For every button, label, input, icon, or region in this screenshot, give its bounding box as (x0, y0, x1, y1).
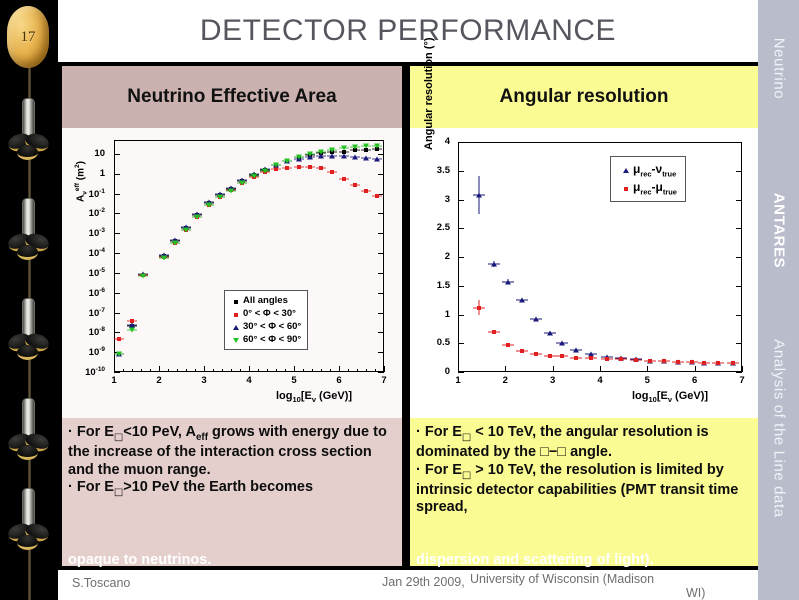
bullet-left-2: · For E□>10 PeV the Earth becomes (68, 479, 394, 499)
data-point (375, 194, 379, 198)
chart-legend: μrec-νtrueμrec-μtrue (610, 156, 686, 202)
data-point (233, 325, 239, 330)
data-point (308, 165, 312, 169)
data-point (297, 165, 301, 169)
right-sidebar: Neutrino ANTARES Analysis of the Line da… (758, 0, 799, 600)
bullet-right-overflow: dispersion and scattering of light). (416, 552, 654, 570)
legend-item: 60° < Φ < 90° (229, 333, 301, 346)
y-axis-tick-label: 0 (410, 366, 450, 377)
data-point (492, 330, 496, 334)
data-point (477, 306, 481, 310)
data-point (117, 337, 121, 341)
x-axis-tick-label: 3 (543, 375, 563, 386)
legend-item: 30° < Φ < 60° (229, 320, 301, 333)
data-point (341, 154, 347, 159)
data-point (239, 180, 245, 185)
x-axis-title: log10[Eν (GeV)] (632, 390, 708, 404)
data-point (217, 194, 223, 199)
data-point (274, 167, 278, 171)
panel-angular-resolution: Angular resolution 00.511.522.533.541234… (410, 66, 758, 566)
data-point (520, 349, 524, 353)
data-point (194, 215, 200, 220)
y-axis-tick-label: 10-7 (62, 307, 105, 319)
sidebar-label-analysis: Analysis of the Line data (770, 339, 787, 517)
y-axis-tick-label: 10-3 (62, 227, 105, 239)
data-point (296, 154, 302, 159)
slide-number: 17 (21, 29, 36, 46)
data-point (534, 352, 538, 356)
data-point (505, 279, 511, 284)
data-point (559, 341, 565, 346)
data-point (341, 146, 347, 151)
data-point (476, 192, 482, 197)
data-point (234, 300, 238, 304)
footer-author: S.Toscano (72, 576, 130, 590)
x-axis-tick-label: 5 (637, 375, 657, 386)
data-point (560, 354, 564, 358)
legend-marker-icon (229, 309, 243, 319)
data-point (702, 361, 706, 365)
data-point (251, 174, 257, 179)
sidebar-label-neutrino: Neutrino (770, 38, 787, 100)
x-axis-tick-label: 6 (685, 375, 705, 386)
bullet-right-2: · For E□ > 10 TeV, the resolution is lim… (416, 462, 750, 517)
data-point (140, 273, 146, 278)
y-axis-tick-label: 10-4 (62, 247, 105, 259)
data-point (234, 313, 238, 317)
bullet-left-1: · For E□<10 PeV, Aeff grows with energy … (68, 424, 394, 479)
data-point (624, 187, 628, 191)
footer-institution: University of Wisconsin (Madison (470, 572, 654, 586)
data-point (233, 338, 239, 343)
data-point (319, 166, 323, 170)
data-point (329, 147, 335, 152)
data-point (623, 168, 629, 173)
y-axis-tick-label: 0.5 (410, 337, 450, 348)
legend-label: 60° < Φ < 90° (243, 334, 301, 345)
y-axis-tick-label: 10 (62, 148, 105, 159)
legend-marker-icon (229, 296, 243, 306)
data-point (690, 360, 694, 364)
footer-institution-cont: WI) (686, 586, 705, 600)
data-point (589, 356, 593, 360)
data-point (574, 356, 578, 360)
x-axis-tick-label: 1 (104, 375, 124, 386)
data-point (363, 156, 369, 161)
x-axis-tick-label: 3 (194, 375, 214, 386)
data-point (363, 144, 369, 149)
data-point (605, 357, 609, 361)
y-axis-tick-label: 10-5 (62, 267, 105, 279)
y-axis-tick-label: 2 (410, 251, 450, 262)
data-point (547, 330, 553, 335)
data-point (116, 352, 122, 357)
legend-item: All angles (229, 294, 301, 307)
data-point (318, 154, 324, 159)
y-axis-tick-label: 10-6 (62, 287, 105, 299)
legend-label: All angles (243, 295, 288, 306)
data-point (533, 316, 539, 321)
y-axis-title: Angular resolution (°) (423, 37, 435, 150)
panel-neutrino-effective-area: Neutrino Effective Area 10110-110-210-31… (62, 66, 402, 566)
data-point (352, 155, 358, 160)
legend-marker-icon (619, 165, 633, 175)
data-point (206, 203, 212, 208)
data-point (731, 361, 735, 365)
detector-storey (8, 398, 50, 470)
data-point (374, 156, 380, 161)
bullet-right-1: · For E□ < 10 TeV, the angular resolutio… (416, 424, 750, 462)
data-point (676, 360, 680, 364)
data-point (374, 143, 380, 148)
legend-label: 0° < Φ < 30° (243, 308, 296, 319)
y-axis-tick-label: 2.5 (410, 222, 450, 233)
panel-left-text: · For E□<10 PeV, Aeff grows with energy … (62, 418, 402, 566)
legend-marker-icon (619, 183, 633, 193)
page-title: DETECTOR PERFORMANCE (200, 14, 616, 48)
footer-date: Jan 29th 2009, (382, 575, 465, 589)
sidebar-label-antares: ANTARES (770, 193, 787, 269)
y-axis-tick-label: 1 (410, 309, 450, 320)
y-axis-tick-label: 1.5 (410, 280, 450, 291)
chart-neutrino-effective-area: 10110-110-210-310-410-510-610-710-810-91… (62, 128, 402, 418)
data-point (352, 145, 358, 150)
chart-legend: All angles0° < Φ < 30°30° < Φ < 60°60° <… (224, 290, 308, 350)
detector-line-graphic: 17 (0, 0, 58, 600)
x-axis-title: log10[Eν (GeV)] (276, 390, 352, 404)
data-point (172, 241, 178, 246)
data-point (662, 359, 666, 363)
data-point (491, 261, 497, 266)
legend-item: μrec-νtrue (619, 161, 677, 179)
x-axis-tick-label: 1 (448, 375, 468, 386)
x-axis-tick-label: 4 (239, 375, 259, 386)
panel-right-header: Angular resolution (410, 66, 758, 128)
slide-title-bar: DETECTOR PERFORMANCE (58, 0, 758, 62)
data-point (318, 149, 324, 154)
x-axis-tick-label: 7 (374, 375, 394, 386)
panel-right-text: · For E□ < 10 TeV, the angular resolutio… (410, 418, 758, 566)
y-axis-tick-label: 10-9 (62, 346, 105, 358)
legend-marker-icon (229, 322, 243, 332)
data-point (183, 228, 189, 233)
data-point (262, 168, 268, 173)
y-axis-tick-label: 10-10 (62, 366, 105, 378)
legend-label: μrec-νtrue (633, 162, 676, 178)
legend-label: 30° < Φ < 60° (243, 321, 301, 332)
data-point (716, 361, 720, 365)
data-point (307, 151, 313, 156)
y-axis-tick-label: 3 (410, 194, 450, 205)
data-point (648, 359, 652, 363)
plot-axes (458, 142, 742, 372)
legend-marker-icon (229, 335, 243, 345)
data-point (330, 170, 334, 174)
legend-item: 0° < Φ < 30° (229, 307, 301, 320)
detector-storey (8, 488, 50, 560)
x-axis-tick-label: 4 (590, 375, 610, 386)
detector-storey (8, 98, 50, 170)
y-axis-tick-label: 10-8 (62, 326, 105, 338)
data-point (285, 166, 289, 170)
legend-label: μrec-μtrue (633, 180, 677, 196)
data-point (353, 183, 357, 187)
data-point (619, 357, 623, 361)
panel-left-header: Neutrino Effective Area (62, 66, 402, 128)
legend-item: μrec-μtrue (619, 179, 677, 197)
detector-storey (8, 298, 50, 370)
data-point (161, 255, 167, 260)
data-point (284, 158, 290, 163)
x-axis-tick-label: 5 (284, 375, 304, 386)
data-point (342, 177, 346, 181)
data-point (573, 347, 579, 352)
x-axis-tick-label: 7 (732, 375, 752, 386)
y-axis-tick-label: 3.5 (410, 165, 450, 176)
data-point (228, 188, 234, 193)
data-point (364, 189, 368, 193)
x-axis-tick-label: 2 (495, 375, 515, 386)
data-point (506, 343, 510, 347)
data-point (329, 153, 335, 158)
x-axis-tick-label: 2 (149, 375, 169, 386)
chart-angular-resolution: 00.511.522.533.541234567Angular resoluti… (410, 128, 758, 418)
x-axis-tick-label: 6 (329, 375, 349, 386)
data-point (519, 297, 525, 302)
y-axis-tick-label: 10-2 (62, 207, 105, 219)
y-axis-title: Aνeff (m2) (74, 161, 88, 202)
data-point (548, 354, 552, 358)
data-point (129, 328, 135, 333)
slide-number-buoy: 17 (7, 6, 49, 68)
detector-storey (8, 198, 50, 270)
data-point (634, 358, 638, 362)
bullet-left-overflow: opaque to neutrinos. (68, 552, 211, 570)
data-point (273, 163, 279, 168)
